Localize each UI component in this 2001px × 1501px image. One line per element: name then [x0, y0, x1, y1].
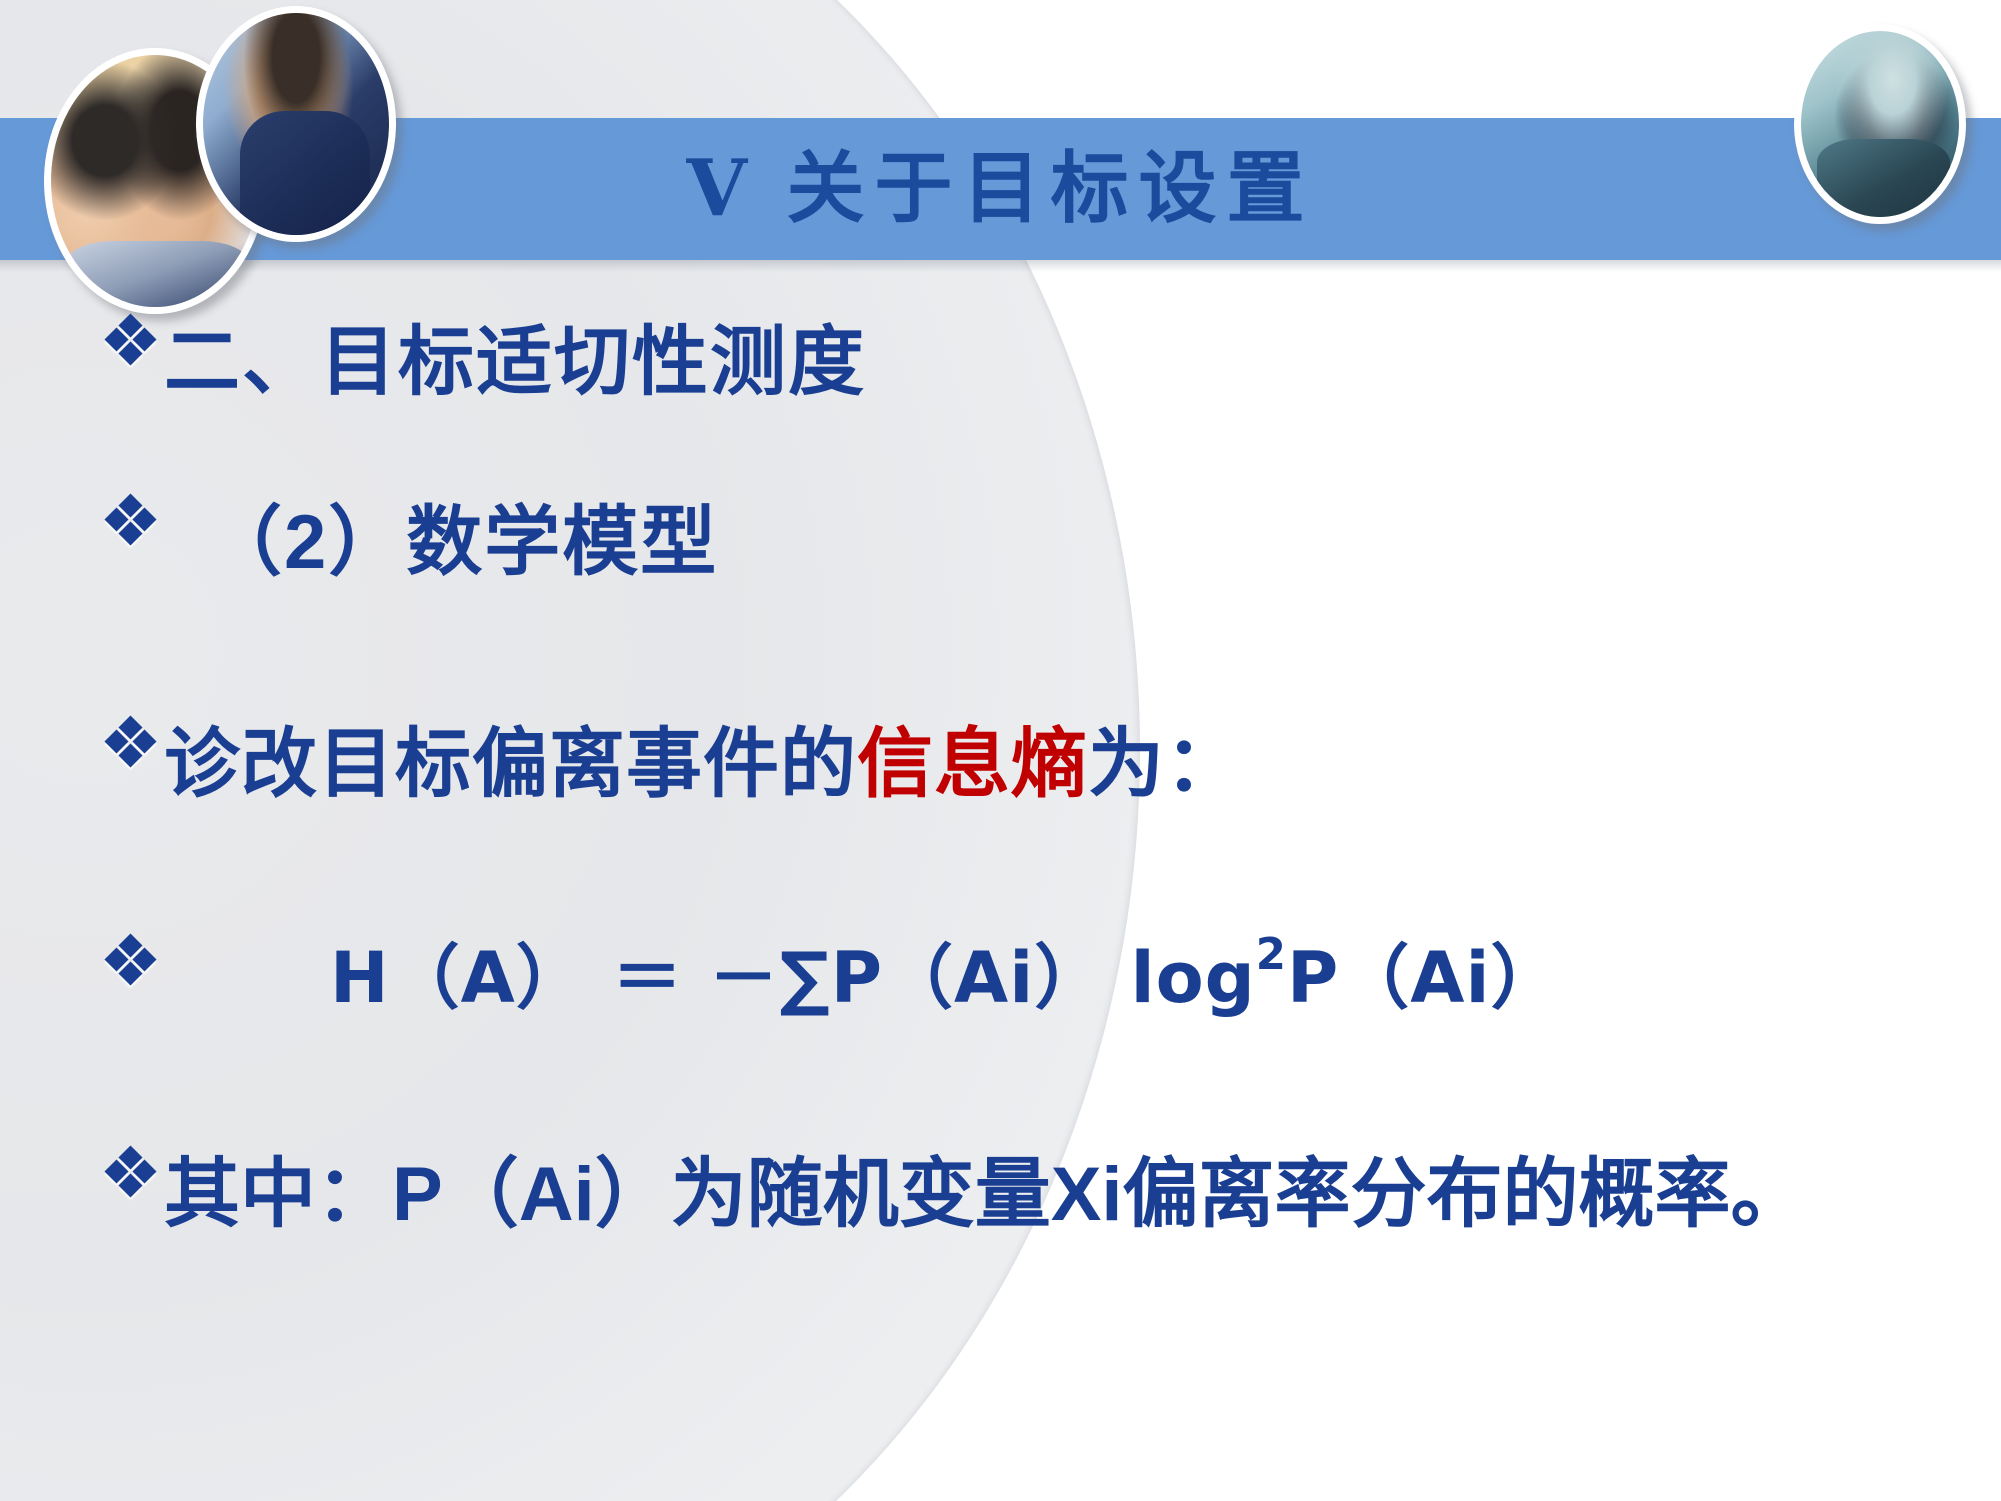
diamond-bullet-icon: [108, 1148, 154, 1194]
formula-part-2: P（Ai）: [1287, 922, 1561, 1023]
bullet-line-3-text-before: 诊改目标偏离事件的: [164, 702, 857, 812]
bullet-line-3-text-after: 为：: [1088, 702, 1242, 812]
bullet-line-2: （2）数学模型: [108, 480, 718, 590]
diamond-bullet-icon: [108, 718, 154, 764]
formula-line: H（A） ＝ －∑P（Ai） log2P（Ai）: [108, 922, 1561, 1023]
bullet-line-5: 其中：P（Ai）为随机变量Xi偏离率分布的概率。: [108, 1132, 1807, 1242]
diamond-bullet-icon: [108, 936, 154, 982]
bullet-line-5-text: 其中：P（Ai）为随机变量Xi偏离率分布的概率。: [164, 1132, 1807, 1242]
header-band-shadow: [0, 260, 2001, 272]
photo-man-at-whiteboard: [1794, 24, 1966, 224]
bullet-line-3: 诊改目标偏离事件的信息熵为：: [108, 702, 1242, 812]
diamond-bullet-icon: [108, 496, 154, 542]
bullet-line-2-text: （2）数学模型: [206, 480, 718, 590]
diamond-bullet-icon: [108, 316, 154, 362]
photo-businessmen-handshake: [196, 6, 396, 242]
bullet-line-3-highlight: 信息熵: [857, 702, 1088, 812]
slide-canvas: Ⅴ 关于目标设置 二、目标适切性测度 （2）数学模型 诊改目标偏离事件的信息熵为…: [0, 0, 2001, 1501]
bullet-line-1: 二、目标适切性测度: [108, 300, 866, 410]
formula-part-1: H（A） ＝ －∑P（Ai） log: [330, 922, 1256, 1023]
formula-subscript: 2: [1256, 930, 1287, 980]
bullet-line-1-text: 二、目标适切性测度: [164, 300, 866, 410]
